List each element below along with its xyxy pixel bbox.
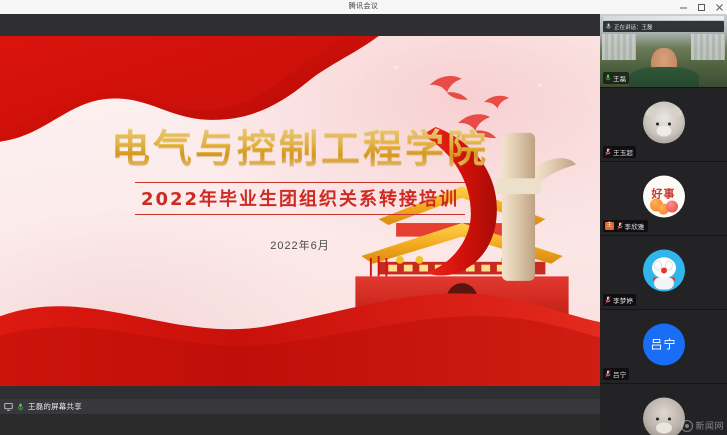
bear-ear-left — [645, 107, 656, 118]
participant-tile-initials[interactable]: 吕宁 吕宁 — [600, 310, 727, 384]
watermark: 新闻网 — [681, 419, 724, 432]
participant-tile-video[interactable]: 正在讲话：王磊 王磊 — [600, 14, 727, 88]
mic-muted-icon — [605, 370, 611, 378]
minimize-button[interactable] — [679, 3, 688, 12]
tencent-meeting-window: 腾讯会议 — [0, 0, 727, 435]
screen-share-icon — [4, 402, 13, 411]
bear-eye-left — [656, 122, 659, 125]
avatar: 吕宁 — [643, 323, 685, 365]
participant-name-chip: 吕宁 — [603, 368, 629, 380]
circle-logo-icon — [681, 420, 693, 432]
letterbox-top — [0, 14, 600, 36]
participant-strip[interactable]: 正在讲话：王磊 王磊 — [600, 14, 727, 435]
slide-subtitle-frame: 2022年毕业生团组织关系转接培训 — [135, 182, 465, 215]
participant-tile-bear[interactable]: 王玉超 — [600, 88, 727, 162]
participant-name-chip: 王玉超 — [603, 146, 636, 158]
bear-ear-right — [671, 107, 682, 118]
window-titlebar: 腾讯会议 — [0, 0, 727, 15]
participant-name-chip: 王磊 — [603, 72, 629, 84]
participant-name: 王磊 — [613, 73, 626, 83]
watermark-text: 新闻网 — [695, 419, 724, 432]
mic-icon — [605, 74, 611, 82]
mic-muted-icon — [605, 296, 611, 304]
bear-muzzle — [656, 125, 671, 136]
avatar — [643, 101, 685, 143]
video-background-building-left — [602, 34, 636, 60]
participant-name-chip: 李梦婷 — [603, 294, 636, 306]
video-inner-speaking-bar: 正在讲话：王磊 — [603, 21, 724, 32]
puppy-eye-right — [668, 417, 671, 420]
doraemon-body — [654, 277, 674, 289]
doraemon-nose — [661, 267, 667, 273]
avatar — [643, 249, 685, 291]
bear-eye-right — [668, 122, 671, 125]
participant-name: 李欣雅 — [625, 221, 645, 231]
mic-icon — [606, 23, 611, 30]
window-controls — [679, 0, 724, 14]
participant-tile-host[interactable]: 好事 主 李欣雅 — [600, 162, 727, 236]
avatar: 好事 — [643, 175, 685, 217]
active-speaker-label: 正在讲话：王磊 — [614, 23, 653, 31]
participant-name: 吕宁 — [613, 369, 626, 379]
mic-muted-icon — [605, 148, 611, 156]
participant-name-chip: 主 李欣雅 — [603, 220, 648, 232]
participant-tile-doraemon[interactable]: 李梦婷 — [600, 236, 727, 310]
presentation-slide: 电气与控制工程学院 2022年毕业生团组织关系转接培训 2022年6月 — [0, 36, 600, 386]
slide-main-title: 电气与控制工程学院 — [0, 127, 600, 172]
video-inner-window-bar — [603, 16, 724, 20]
slide-text-block: 电气与控制工程学院 2022年毕业生团组织关系转接培训 2022年6月 — [0, 127, 600, 253]
shared-screen-stage[interactable]: 电气与控制工程学院 2022年毕业生团组织关系转接培训 2022年6月 王磊的屏… — [0, 14, 600, 414]
puppy-eye-left — [656, 417, 659, 420]
slide-sub-title: 2022年毕业生团组织关系转接培训 — [141, 185, 459, 211]
avatar — [643, 397, 685, 435]
screen-share-label: 王磊的屏幕共享 — [28, 401, 82, 412]
host-badge: 主 — [605, 222, 614, 231]
mic-active-icon — [16, 402, 25, 411]
mic-muted-icon — [617, 222, 623, 230]
avatar-text: 好事 — [643, 186, 685, 202]
video-person-body — [629, 67, 699, 88]
avatar-text: 吕宁 — [643, 323, 685, 365]
close-button[interactable] — [715, 3, 724, 12]
window-title: 腾讯会议 — [0, 0, 727, 14]
video-background-building-right — [691, 34, 725, 60]
slide-date: 2022年6月 — [0, 237, 600, 253]
avatar-orange-3 — [666, 201, 678, 213]
maximize-button[interactable] — [697, 3, 706, 12]
participant-name: 王玉超 — [613, 147, 633, 157]
puppy-muzzle — [656, 422, 672, 433]
participant-name: 李梦婷 — [613, 295, 633, 305]
screen-share-banner: 王磊的屏幕共享 — [0, 399, 600, 414]
